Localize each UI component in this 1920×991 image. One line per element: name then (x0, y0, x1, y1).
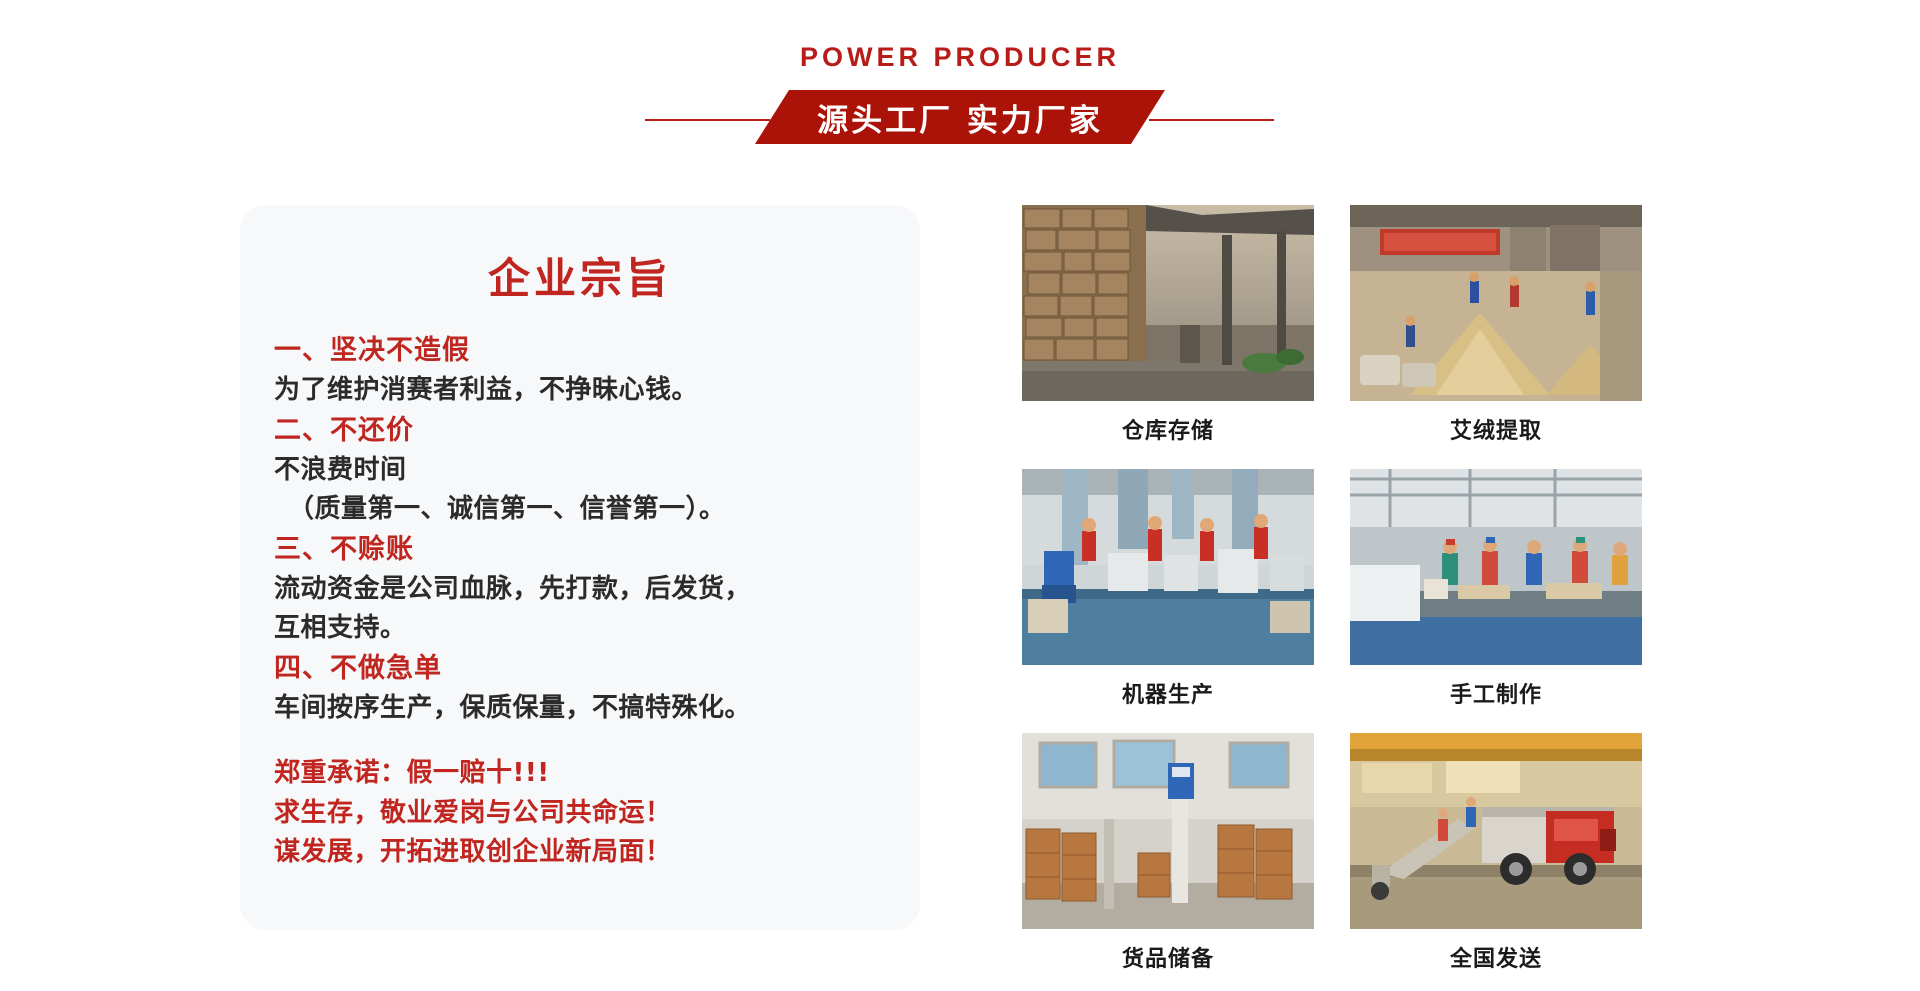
gallery-item: 机器生产 (1022, 469, 1314, 723)
header-eyebrow-text: POWER PRODUCER (0, 42, 1920, 73)
principle-heading: 四、不做急单 (274, 648, 886, 689)
principle-line: 流动资金是公司血脉，先打款，后发货， (274, 570, 886, 609)
photo-machine-production[interactable] (1022, 469, 1314, 665)
banner-title: 源头工厂 实力厂家 (817, 95, 1103, 140)
handmade-workshop-photo-illustration (1350, 469, 1642, 665)
pledge-line: 求生存，敬业爱岗与公司共命运！ (274, 794, 886, 834)
principle-item: 一、坚决不造假 为了维护消赛者利益，不挣昧心钱。 (274, 330, 886, 410)
nationwide-shipping-photo-illustration (1350, 733, 1642, 929)
machine-production-photo-illustration (1022, 469, 1314, 665)
gallery-item: 货品储备 (1022, 733, 1314, 987)
factory-photo-gallery: 仓库存储 (1022, 205, 1642, 987)
gallery-item: 仓库存储 (1022, 205, 1314, 459)
purpose-title: 企业宗旨 (274, 245, 886, 306)
photo-caption: 仓库存储 (1022, 401, 1314, 459)
photo-caption: 机器生产 (1022, 665, 1314, 723)
photo-caption: 货品储备 (1022, 929, 1314, 987)
principle-heading: 三、不赊账 (274, 529, 886, 570)
principle-heading: 一、坚决不造假 (274, 330, 886, 371)
principle-heading: 二、不还价 (274, 410, 886, 451)
company-purpose-card: 企业宗旨 一、坚决不造假 为了维护消赛者利益，不挣昧心钱。 二、不还价 不浪费时… (240, 205, 920, 930)
photo-mugwort-extraction[interactable] (1350, 205, 1642, 401)
banner-parallelogram: 源头工厂 实力厂家 (755, 90, 1165, 144)
photo-nationwide-shipping[interactable] (1350, 733, 1642, 929)
page-header: POWER PRODUCER 源头工厂 实力厂家 (0, 0, 1920, 160)
principle-item: 四、不做急单 车间按序生产，保质保量，不搞特殊化。 (274, 648, 886, 728)
gallery-item: 艾绒提取 (1350, 205, 1642, 459)
pledge-line: 郑重承诺：假一赔十!!! (274, 754, 886, 794)
pledge-block: 郑重承诺：假一赔十!!! 求生存，敬业爱岗与公司共命运！ 谋发展，开拓进取创企业… (274, 754, 886, 873)
banner-rule-left (645, 119, 770, 121)
mugwort-photo-illustration (1350, 205, 1642, 401)
header-banner: 源头工厂 实力厂家 (0, 90, 1920, 148)
principle-line: 互相支持。 (274, 609, 886, 648)
page-root: POWER PRODUCER 源头工厂 实力厂家 企业宗旨 一、坚决不造假 为了… (0, 0, 1920, 991)
photo-handmade-workshop[interactable] (1350, 469, 1642, 665)
principle-line: 为了维护消赛者利益，不挣昧心钱。 (274, 371, 886, 410)
photo-caption: 全国发送 (1350, 929, 1642, 987)
photo-warehouse-stone-wall[interactable] (1022, 205, 1314, 401)
pledge-line: 谋发展，开拓进取创企业新局面！ (274, 833, 886, 873)
warehouse-photo-illustration (1022, 205, 1314, 401)
gallery-item: 手工制作 (1350, 469, 1642, 723)
goods-stock-photo-illustration (1022, 733, 1314, 929)
principle-item: 二、不还价 不浪费时间 （质量第一、诚信第一、信誉第一）。 (274, 410, 886, 529)
photo-caption: 艾绒提取 (1350, 401, 1642, 459)
gallery-item: 全国发送 (1350, 733, 1642, 987)
principle-line: （质量第一、诚信第一、信誉第一）。 (274, 490, 886, 529)
principle-line: 车间按序生产，保质保量，不搞特殊化。 (274, 689, 886, 728)
photo-goods-stock[interactable] (1022, 733, 1314, 929)
photo-caption: 手工制作 (1350, 665, 1642, 723)
principle-item: 三、不赊账 流动资金是公司血脉，先打款，后发货， 互相支持。 (274, 529, 886, 648)
banner-rule-right (1149, 119, 1274, 121)
principle-line: 不浪费时间 (274, 451, 886, 490)
